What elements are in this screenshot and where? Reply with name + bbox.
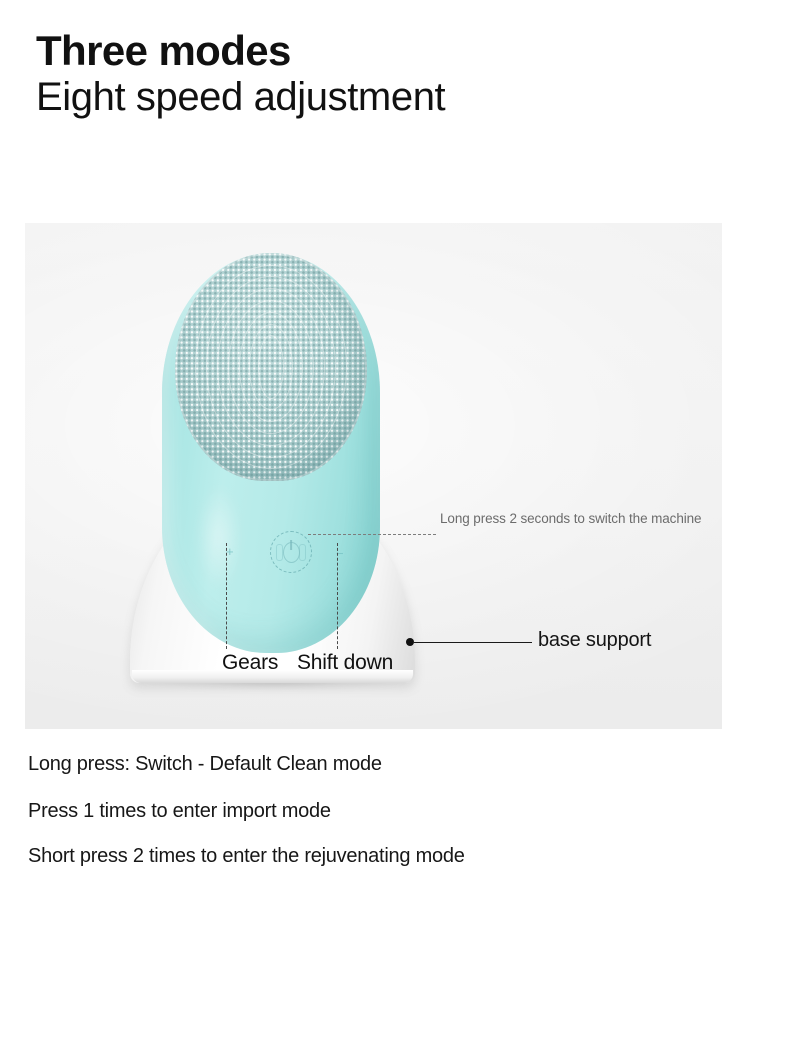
brush-head bbox=[175, 253, 367, 481]
brush-head-edge bbox=[175, 253, 367, 481]
callout-shift-down-label: Shift down bbox=[297, 651, 393, 675]
callout-base-support-label: base support bbox=[538, 629, 651, 652]
callout-gears-label: Gears bbox=[222, 651, 278, 675]
instruction-line-1: Long press: Switch - Default Clean mode bbox=[28, 753, 748, 776]
product-scene: + − Long press 2 seconds to switch the m… bbox=[25, 223, 722, 729]
power-icon bbox=[283, 542, 300, 563]
base-support-leader-line bbox=[414, 642, 532, 643]
base-support-leader-dot bbox=[406, 638, 414, 646]
shift-down-leader-line bbox=[337, 543, 338, 649]
switch-leader-line bbox=[308, 534, 436, 535]
power-right-bracket-icon bbox=[299, 544, 306, 561]
product-photo-panel: + − Long press 2 seconds to switch the m… bbox=[25, 223, 722, 729]
page-title-line-1: Three modes bbox=[36, 28, 736, 73]
gear-up-mark-icon: + bbox=[226, 545, 234, 558]
gears-leader-line bbox=[226, 543, 227, 649]
instruction-line-2: Press 1 times to enter import mode bbox=[28, 800, 748, 823]
page-title-line-2: Eight speed adjustment bbox=[36, 73, 736, 122]
instruction-line-3: Short press 2 times to enter the rejuven… bbox=[28, 845, 748, 868]
power-left-bracket-icon bbox=[276, 544, 283, 561]
facial-cleansing-device: + − bbox=[162, 253, 380, 653]
device-highlight bbox=[188, 463, 250, 613]
power-button[interactable] bbox=[270, 531, 312, 573]
callout-switch-label: Long press 2 seconds to switch the machi… bbox=[440, 511, 701, 526]
instructions-block: Long press: Switch - Default Clean mode … bbox=[28, 753, 748, 868]
heading-block: Three modes Eight speed adjustment bbox=[36, 28, 736, 122]
